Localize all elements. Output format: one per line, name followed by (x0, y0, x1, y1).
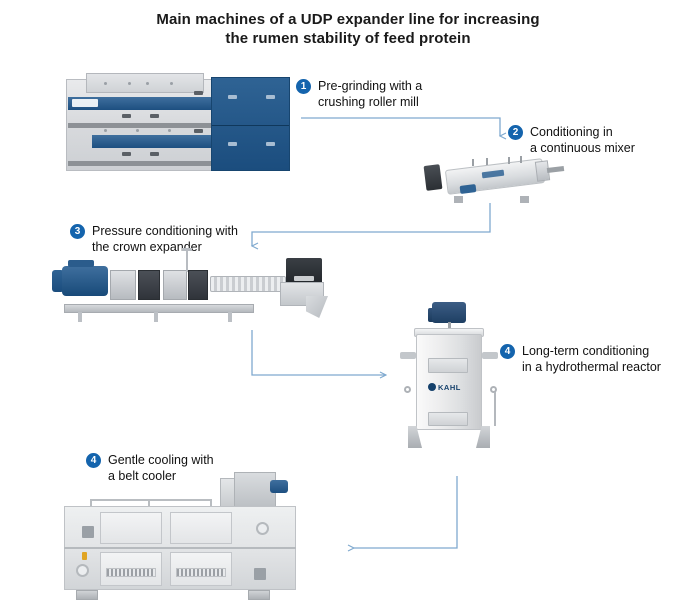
mixer-nozzle (486, 158, 488, 165)
expander-standpipe-cap (182, 248, 192, 251)
connector-3-to-4 (252, 330, 386, 375)
mill-bolt (136, 129, 139, 132)
mill-bolt (170, 82, 173, 85)
cooler-indicator-light (82, 552, 87, 560)
step-label-3: Pressure conditioning with the crown exp… (92, 223, 238, 255)
cooler-support-foot (248, 590, 270, 600)
step-callout-1: 1 Pre-grinding with a crushing roller mi… (296, 78, 466, 110)
mill-handle (122, 152, 131, 156)
reactor-pipe (494, 392, 496, 426)
reactor-motor (432, 302, 466, 323)
mixer-support (454, 196, 463, 203)
cabinet-handle (228, 95, 237, 99)
mill-bolt (128, 82, 131, 85)
step-callout-3: 3 Pressure conditioning with the crown e… (70, 223, 260, 255)
title-line-1: Main machines of a UDP expander line for… (0, 10, 696, 29)
cabinet-handle (266, 142, 275, 146)
mixer-nozzle (472, 159, 474, 166)
mill-rail-upper (68, 123, 228, 128)
expander-leg (154, 312, 158, 322)
mill-bolt (104, 82, 107, 85)
title-line-2: the rumen stability of feed protein (0, 29, 696, 48)
step-badge-3: 3 (70, 224, 85, 239)
expander-housing-dark-1 (138, 270, 160, 300)
mill-kahl-logo (72, 99, 98, 107)
expander-standpipe (186, 250, 188, 272)
cooler-panel-door (100, 512, 162, 544)
machine-continuous-mixer (424, 155, 564, 203)
machine-belt-cooler (62, 478, 312, 608)
cooler-support-foot (76, 590, 98, 600)
cooler-motor (270, 480, 288, 493)
cooler-handwheel (76, 564, 89, 577)
mixer-outlet-pipe (547, 166, 564, 173)
mill-bolt (146, 82, 149, 85)
machine-crown-expander (58, 252, 326, 324)
cooler-top-rail (90, 499, 212, 501)
connector-2-to-3 (252, 203, 490, 246)
mixer-nozzle (508, 157, 510, 164)
reactor-inspection-door-upper (428, 358, 468, 373)
expander-leg (228, 312, 232, 322)
mill-handle (122, 114, 131, 118)
cooler-panel-door (170, 512, 232, 544)
step-badge-2: 2 (508, 125, 523, 140)
step-callout-4: 4 Long-term conditioning in a hydrotherm… (500, 343, 690, 375)
mill-handle (150, 152, 159, 156)
expander-gearbox (110, 270, 136, 300)
mill-bolt (168, 129, 171, 132)
reactor-brand-logo: KAHL (428, 382, 468, 392)
mill-blue-band-lower (92, 135, 230, 148)
expander-discharge-chute (306, 296, 328, 318)
mixer-drive-end (424, 164, 443, 191)
kahl-wordmark: KAHL (438, 383, 461, 392)
mill-handle (194, 129, 203, 133)
reactor-inspection-door-lower (428, 412, 468, 426)
reactor-side-nozzle (400, 352, 416, 359)
cooler-mid-divider (64, 547, 296, 549)
cooler-access-hatch (254, 568, 266, 580)
mill-control-cabinet (211, 77, 290, 171)
cabinet-handle (266, 95, 275, 99)
reactor-side-nozzle (482, 352, 498, 359)
cooler-access-hatch (82, 526, 94, 538)
mill-handle (194, 91, 203, 95)
cooler-air-louvre (106, 568, 156, 577)
mill-handle (150, 114, 159, 118)
mill-bolt (104, 129, 107, 132)
expander-screw-barrel (210, 276, 286, 292)
reactor-valve-left (404, 386, 411, 393)
step-label-1: Pre-grinding with a crushing roller mill (318, 78, 422, 110)
cabinet-handle (228, 142, 237, 146)
step-badge-1: 1 (296, 79, 311, 94)
step-badge-4: 4 (500, 344, 515, 359)
expander-leg (78, 312, 82, 322)
step-label-2: Conditioning in a continuous mixer (530, 124, 635, 156)
mixer-nozzle (520, 156, 522, 163)
machine-hydrothermal-reactor: KAHL (398, 300, 506, 455)
expander-motor (62, 266, 108, 296)
mill-rail-lower (68, 161, 228, 166)
mixer-support (520, 196, 529, 203)
expander-housing-dark-2 (188, 270, 208, 300)
expander-housing-light (163, 270, 187, 300)
kahl-mark-icon (428, 383, 436, 391)
connector-1-to-2 (301, 118, 500, 136)
cooler-handwheel (256, 522, 269, 535)
expander-base-frame (64, 304, 254, 313)
cooler-air-louvre (176, 568, 226, 577)
step-label-4: Long-term conditioning in a hydrothermal… (522, 343, 661, 375)
infographic-canvas: Main machines of a UDP expander line for… (0, 0, 696, 616)
expander-kahl-logo (294, 276, 314, 281)
machine-crushing-roller-mill (66, 73, 290, 173)
connector-4-to-5 (354, 476, 457, 548)
page-title: Main machines of a UDP expander line for… (0, 10, 696, 48)
mixer-motor (460, 184, 477, 194)
step-badge-5: 4 (86, 453, 101, 468)
step-callout-2: 2 Conditioning in a continuous mixer (508, 124, 680, 156)
